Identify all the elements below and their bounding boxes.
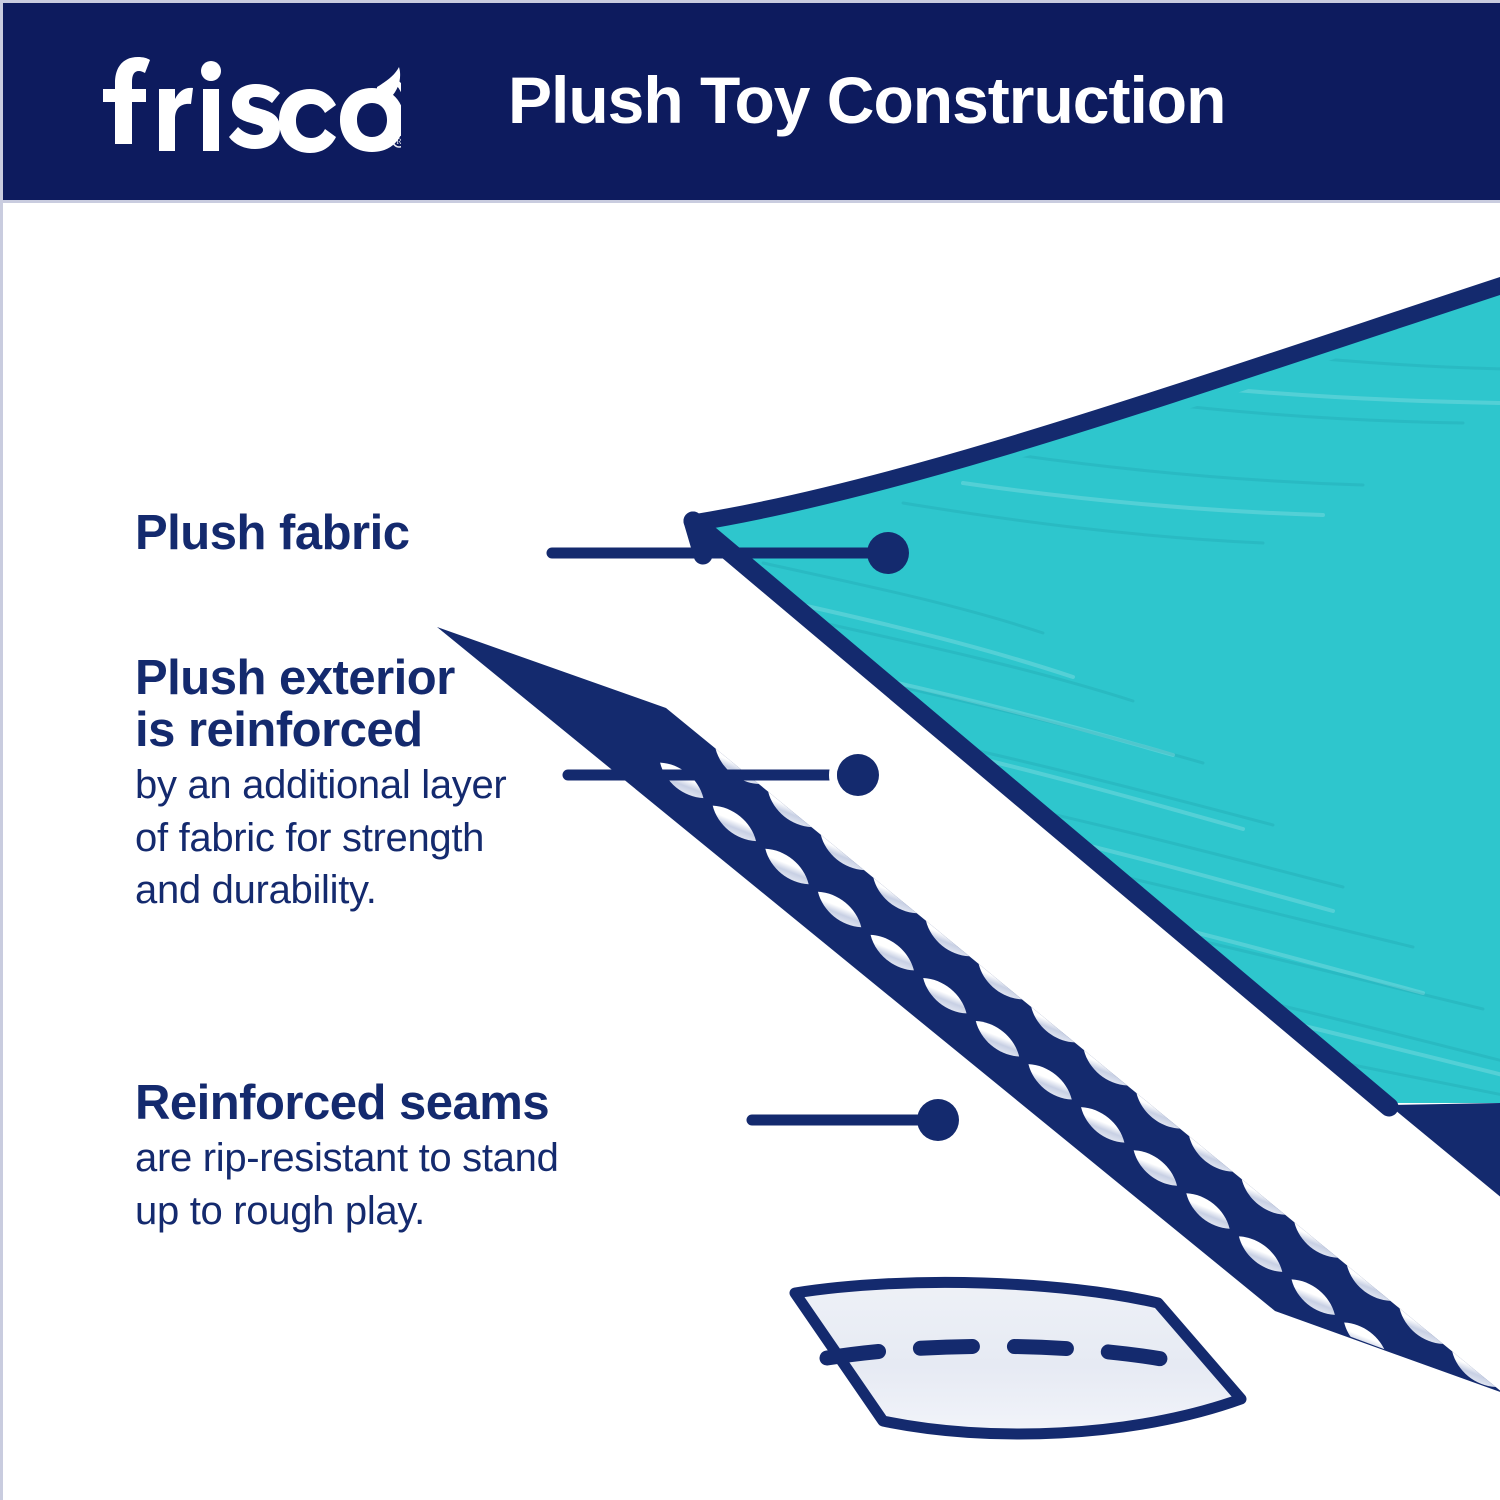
svg-text:R: R <box>396 137 401 146</box>
callout-headline-line: is reinforced <box>135 705 506 757</box>
callout-body-line: and durability. <box>135 866 506 915</box>
infographic-page: R Plush Toy Construction <box>0 0 1500 1500</box>
callout-body-line: by an additional layer <box>135 761 506 810</box>
callout-plush-exterior: Plush exterior is reinforced by an addit… <box>135 653 506 915</box>
callout-body-line: up to rough play. <box>135 1187 559 1236</box>
plush-fabric-layer <box>693 285 1500 1107</box>
callout-body-line: of fabric for strength <box>135 814 506 863</box>
callout-reinforced-seams: Reinforced seams are rip-resistant to st… <box>135 1078 559 1236</box>
callout-plush-fabric: Plush fabric <box>135 508 409 560</box>
mesh-edge-highlight <box>1389 1103 1500 1199</box>
frisco-logo: R <box>81 43 401 153</box>
header-bar: R Plush Toy Construction <box>3 3 1500 203</box>
page-title: Plush Toy Construction <box>508 53 1225 147</box>
callout-headline-line: Reinforced seams <box>135 1078 559 1130</box>
seam-flap-layer <box>795 1282 1241 1434</box>
callout-headline-line: Plush fabric <box>135 508 409 560</box>
callout-body-line: are rip-resistant to stand <box>135 1134 559 1183</box>
callout-headline-line: Plush exterior <box>135 653 506 705</box>
